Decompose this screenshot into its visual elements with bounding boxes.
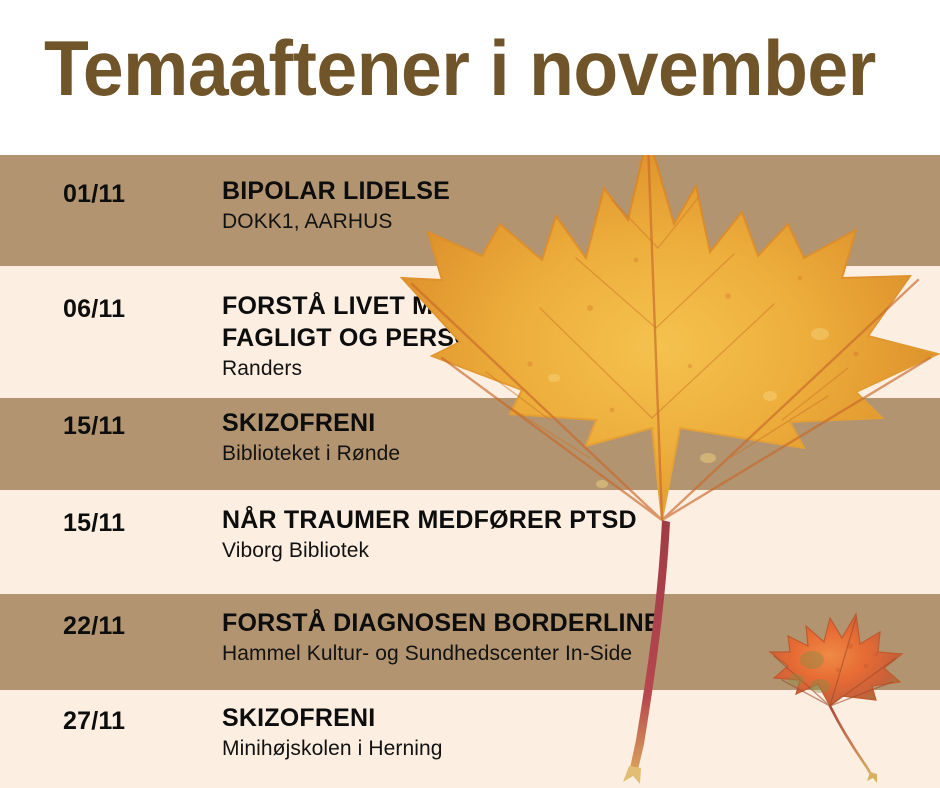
event-date: 22/11 [63,611,213,641]
event-title: FORSTÅ LIVET MED AUTISME UD FRA ET FAGLI… [222,290,930,354]
event-details: SKIZOFRENI Minihøjskolen i Herning [222,702,930,762]
event-date: 27/11 [63,706,213,736]
event-date: 15/11 [63,411,213,441]
event-title: FORSTÅ DIAGNOSEN BORDERLINE [222,607,930,639]
event-title-line: SKIZOFRENI [222,407,930,439]
poster-header: Temaaftener i november [0,0,940,155]
poster-canvas: 01/11 BIPOLAR LIDELSE DOKK1, AARHUS 06/1… [0,0,940,788]
event-venue: Minihøjskolen i Herning [222,735,930,762]
event-title-line: BIPOLAR LIDELSE [222,175,930,207]
event-title-line: FAGLIGT OG PERSONLIGT PERSPEKTIV [222,322,930,354]
event-title-line: FORSTÅ DIAGNOSEN BORDERLINE [222,607,930,639]
event-schedule: 01/11 BIPOLAR LIDELSE DOKK1, AARHUS 06/1… [0,155,940,788]
schedule-row[interactable]: 06/11 FORSTÅ LIVET MED AUTISME UD FRA ET… [0,266,940,398]
event-date: 01/11 [63,179,213,209]
event-venue: Biblioteket i Rønde [222,440,930,467]
event-venue: DOKK1, AARHUS [222,208,930,235]
event-details: NÅR TRAUMER MEDFØRER PTSD Viborg Bibliot… [222,504,930,564]
event-venue: Randers [222,355,930,382]
event-title-line: FORSTÅ LIVET MED AUTISME UD FRA ET [222,290,930,322]
event-venue: Viborg Bibliotek [222,537,930,564]
event-venue: Hammel Kultur- og Sundhedscenter In-Side [222,640,930,667]
event-details: FORSTÅ LIVET MED AUTISME UD FRA ET FAGLI… [222,290,930,382]
event-details: BIPOLAR LIDELSE DOKK1, AARHUS [222,175,930,235]
event-title: NÅR TRAUMER MEDFØRER PTSD [222,504,930,536]
event-details: FORSTÅ DIAGNOSEN BORDERLINE Hammel Kultu… [222,607,930,667]
event-title: BIPOLAR LIDELSE [222,175,930,207]
schedule-row[interactable]: 27/11 SKIZOFRENI Minihøjskolen i Herning [0,690,940,788]
event-title-line: NÅR TRAUMER MEDFØRER PTSD [222,504,930,536]
schedule-row[interactable]: 22/11 FORSTÅ DIAGNOSEN BORDERLINE Hammel… [0,594,940,690]
schedule-row[interactable]: 01/11 BIPOLAR LIDELSE DOKK1, AARHUS [0,155,940,266]
event-date: 15/11 [63,508,213,538]
schedule-row[interactable]: 15/11 SKIZOFRENI Biblioteket i Rønde [0,398,940,490]
event-details: SKIZOFRENI Biblioteket i Rønde [222,407,930,467]
page-title: Temaaftener i november [44,24,852,112]
event-title: SKIZOFRENI [222,702,930,734]
event-title-line: SKIZOFRENI [222,702,930,734]
event-title: SKIZOFRENI [222,407,930,439]
schedule-row[interactable]: 15/11 NÅR TRAUMER MEDFØRER PTSD Viborg B… [0,490,940,594]
event-date: 06/11 [63,294,213,324]
